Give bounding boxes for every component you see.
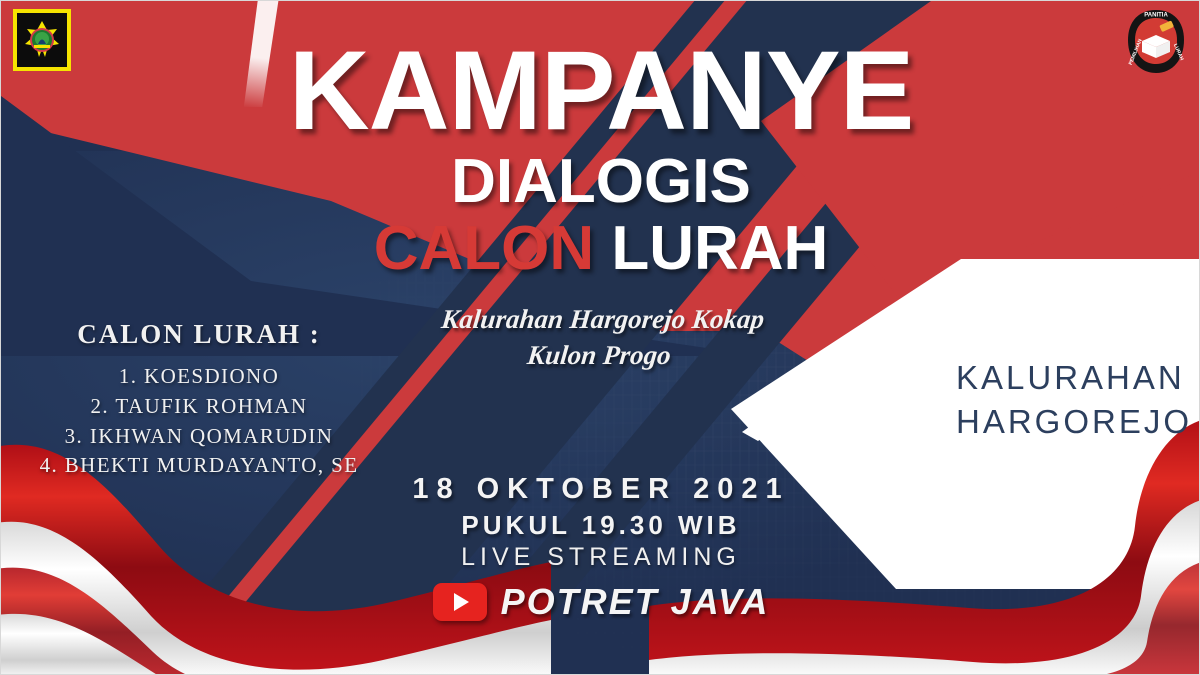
poster-headline: KAMPANYE DIALOGIS CALON LURAH: [1, 37, 1200, 282]
title-calon-accent: CALON: [374, 214, 594, 283]
play-triangle-icon: [454, 593, 469, 611]
live-streaming-block: LIVE STREAMING POTRET JAVA: [301, 543, 901, 623]
event-time: PUKUL 19.30 WIB: [301, 509, 901, 543]
youtube-play-icon[interactable]: [433, 583, 487, 621]
live-streaming-label: LIVE STREAMING: [301, 543, 901, 572]
title-kampanye: KAMPANYE: [1, 37, 1200, 145]
candidate-list-block: CALON LURAH : 1. KOESDIONO 2. TAUFIK ROH…: [19, 319, 379, 481]
title-lurah-rest: LURAH: [594, 214, 828, 283]
title-dialogis: DIALOGIS: [1, 149, 1200, 215]
candidate-item: 3. IKHWAN QOMARUDIN: [19, 422, 379, 452]
svg-text:PANITIA: PANITIA: [1144, 13, 1168, 19]
candidate-list-heading: CALON LURAH :: [19, 319, 379, 350]
campaign-poster: PANITIA PEMILIHAN LURAH KAMPANYE DIALOGI…: [0, 0, 1200, 675]
streaming-channel-row: POTRET JAVA: [301, 581, 901, 623]
event-schedule: 18 OKTOBER 2021 PUKUL 19.30 WIB: [301, 471, 901, 543]
subtitle-line-2: Kulon Progo: [327, 337, 871, 373]
streaming-channel-name: POTRET JAVA: [501, 581, 770, 623]
title-calon-lurah: CALON LURAH: [1, 216, 1200, 282]
village-name-panel: KALURAHAN HARGOREJO: [956, 356, 1196, 443]
candidate-item: 1. KOESDIONO: [19, 362, 379, 392]
village-name-line-2: HARGOREJO: [956, 400, 1196, 444]
village-name-line-1: KALURAHAN: [956, 356, 1196, 400]
event-date: 18 OKTOBER 2021: [301, 471, 901, 507]
subtitle-line-1: Kalurahan Hargorejo Kokap: [331, 301, 875, 337]
candidate-item: 2. TAUFIK ROHMAN: [19, 392, 379, 422]
poster-subtitle: Kalurahan Hargorejo Kokap Kulon Progo: [327, 301, 875, 373]
